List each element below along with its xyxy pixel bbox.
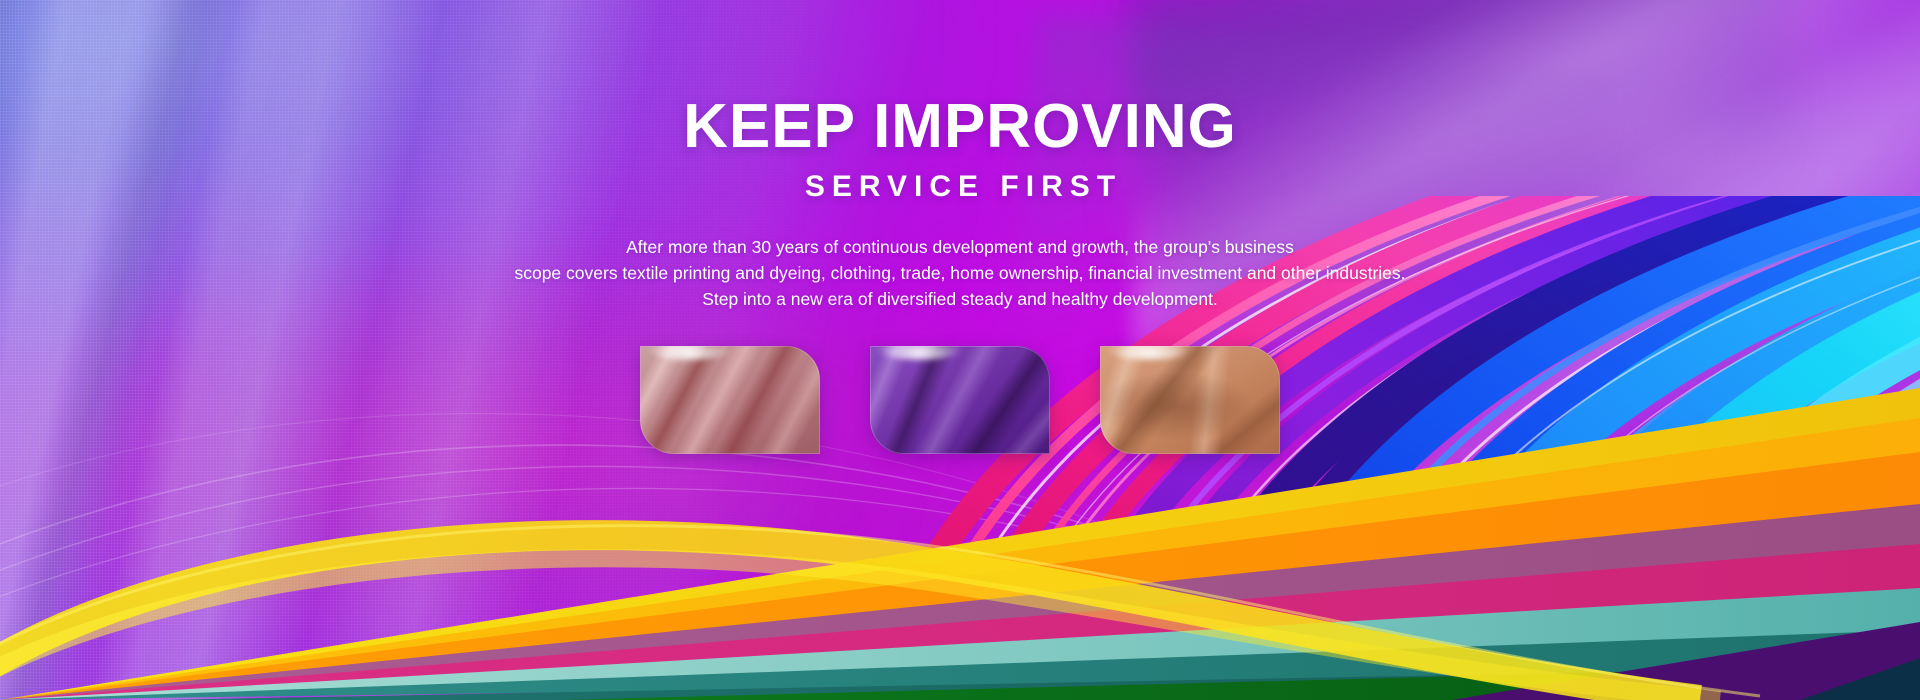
tan-satin-texture: [1100, 346, 1280, 454]
page-subtitle: SERVICE FIRST: [0, 172, 1920, 202]
rose-satin-texture: [640, 346, 820, 454]
tan-satin-swatch[interactable]: [1100, 346, 1280, 454]
description-line-1: After more than 30 years of continuous d…: [480, 234, 1440, 260]
description-text: After more than 30 years of continuous d…: [480, 234, 1440, 312]
rose-satin-swatch[interactable]: [640, 346, 820, 454]
purple-satin-texture: [870, 346, 1050, 454]
banner-content: KEEP IMPROVING SERVICE FIRST After more …: [0, 0, 1920, 454]
page-title: KEEP IMPROVING: [0, 96, 1920, 158]
fabric-swatch-gallery: [640, 346, 1280, 454]
description-line-2: scope covers textile printing and dyeing…: [480, 260, 1440, 286]
description-line-3: Step into a new era of diversified stead…: [480, 286, 1440, 312]
hero-banner: KEEP IMPROVING SERVICE FIRST After more …: [0, 0, 1920, 700]
purple-satin-swatch[interactable]: [870, 346, 1050, 454]
